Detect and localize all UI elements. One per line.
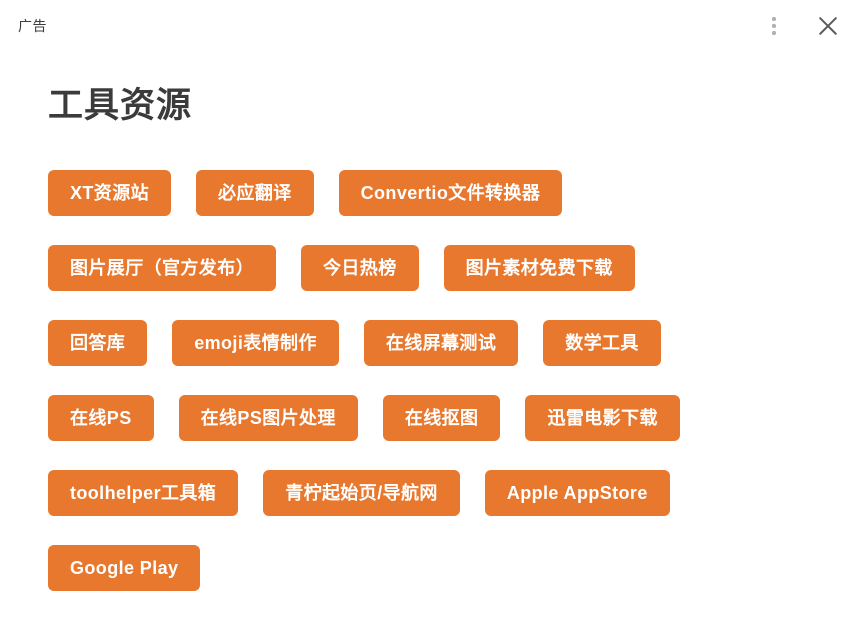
tool-button[interactable]: XT资源站 xyxy=(48,170,171,216)
tool-button[interactable]: emoji表情制作 xyxy=(172,320,339,366)
tool-button[interactable]: 青柠起始页/导航网 xyxy=(263,470,460,516)
tool-button[interactable]: 必应翻译 xyxy=(196,170,314,216)
tool-button[interactable]: 今日热榜 xyxy=(301,245,419,291)
tool-button-row: 回答库emoji表情制作在线屏幕测试数学工具 xyxy=(48,320,838,366)
tool-button-row: 在线PS在线PS图片处理在线抠图迅雷电影下载 xyxy=(48,395,838,441)
tool-button[interactable]: 回答库 xyxy=(48,320,147,366)
ad-label: 广告 xyxy=(18,19,47,33)
kebab-dot xyxy=(772,24,775,27)
tool-button-row: XT资源站必应翻译Convertio文件转换器 xyxy=(48,170,838,216)
tool-button[interactable]: Google Play xyxy=(48,545,200,591)
kebab-dot xyxy=(772,17,775,20)
tool-button[interactable]: Apple AppStore xyxy=(485,470,670,516)
tool-button[interactable]: 数学工具 xyxy=(543,320,661,366)
tool-button[interactable]: 在线抠图 xyxy=(383,395,501,441)
tool-button-grid: XT资源站必应翻译Convertio文件转换器图片展厅（官方发布）今日热榜图片素… xyxy=(48,170,838,591)
tool-button[interactable]: Convertio文件转换器 xyxy=(339,170,563,216)
page-title: 工具资源 xyxy=(48,88,192,123)
tool-button[interactable]: 在线PS xyxy=(48,395,154,441)
tool-button[interactable]: 在线PS图片处理 xyxy=(179,395,358,441)
tool-button-row: Google Play xyxy=(48,545,838,591)
tool-button-row: toolhelper工具箱青柠起始页/导航网Apple AppStore xyxy=(48,470,838,516)
close-icon[interactable] xyxy=(813,11,843,41)
kebab-dot xyxy=(772,31,775,34)
tool-button[interactable]: toolhelper工具箱 xyxy=(48,470,238,516)
tool-button[interactable]: 在线屏幕测试 xyxy=(364,320,518,366)
tool-button[interactable]: 迅雷电影下载 xyxy=(525,395,679,441)
tool-button-row: 图片展厅（官方发布）今日热榜图片素材免费下载 xyxy=(48,245,838,291)
ad-bar: 广告 xyxy=(0,0,865,52)
tool-button[interactable]: 图片素材免费下载 xyxy=(444,245,635,291)
kebab-menu-icon[interactable] xyxy=(761,10,787,42)
tool-button[interactable]: 图片展厅（官方发布） xyxy=(48,245,276,291)
